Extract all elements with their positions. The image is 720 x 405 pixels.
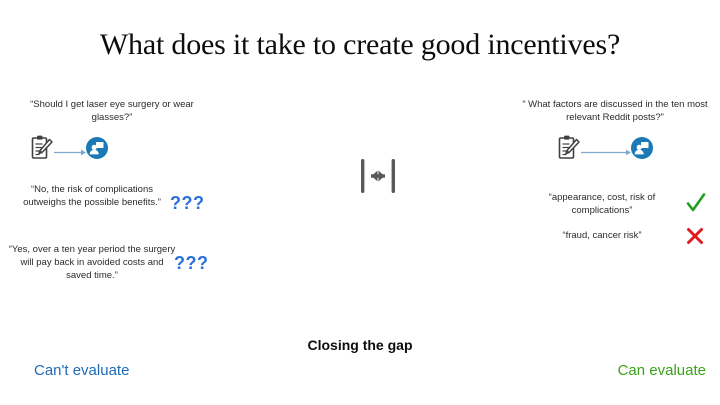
closing-the-gap-caption: Closing the gap (0, 337, 720, 353)
left-icon-row (30, 134, 108, 162)
right-icon-row (557, 134, 653, 162)
right-arrow-icon (54, 144, 86, 153)
left-answer-1-verdict-unknown: ??? (170, 194, 205, 212)
person-presenter-circle-icon (86, 137, 108, 159)
right-arrow-icon (581, 144, 631, 153)
cant-evaluate-label: Can't evaluate (34, 362, 129, 379)
clipboard-with-pencil-icon (30, 134, 54, 162)
clipboard-with-pencil-icon (557, 134, 581, 162)
left-answer-2-text: “Yes, over a ten year period the surgery… (8, 243, 176, 282)
page-title: What does it take to create good incenti… (0, 28, 720, 62)
person-presenter-circle-icon (631, 137, 653, 159)
horizontal-gap-arrow-icon (355, 155, 401, 197)
can-evaluate-label: Can evaluate (618, 362, 706, 379)
slide-canvas: What does it take to create good incenti… (0, 0, 720, 405)
left-answer-2-verdict-unknown: ??? (174, 254, 209, 272)
left-question-text: “Should I get laser eye surgery or wear … (12, 98, 212, 124)
right-answer-1-text: “appearance, cost, risk of complications… (528, 191, 676, 217)
right-answer-2-text: “fraud, cancer risk” (528, 229, 676, 242)
close-icon (686, 227, 704, 245)
check-icon (686, 192, 706, 214)
right-question-text: “ What factors are discussed in the ten … (512, 98, 718, 124)
left-answer-1-text: “No, the risk of complications outweighs… (18, 183, 166, 209)
